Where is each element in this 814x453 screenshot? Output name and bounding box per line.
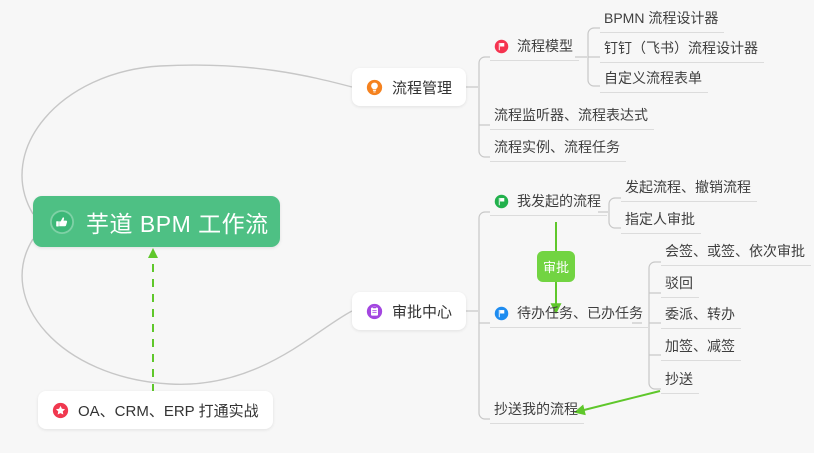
node-process-listener-expression[interactable]: 流程监听器、流程表达式: [490, 105, 654, 130]
node-delegate-transfer-label: 委派、转办: [665, 304, 735, 324]
node-delegate-transfer[interactable]: 委派、转办: [661, 304, 741, 329]
node-todo-done-tasks[interactable]: 待办任务、已办任务: [490, 303, 649, 328]
clipboard-icon: [366, 303, 383, 320]
node-carbon-copy-label: 抄送: [665, 369, 693, 389]
node-my-initiated-process-label: 我发起的流程: [517, 191, 601, 211]
node-process-instance-task-label: 流程实例、流程任务: [494, 137, 620, 157]
node-custom-process-form[interactable]: 自定义流程表单: [600, 68, 708, 93]
branch-process-management[interactable]: 流程管理: [352, 68, 466, 106]
arrow-cc-to-cc-mine: [576, 391, 660, 412]
connector-mine-trunk: [609, 198, 615, 228]
node-start-cancel-process[interactable]: 发起流程、撤销流程: [621, 177, 757, 202]
connector-model-trunk: [588, 28, 594, 86]
connector-todo-trunk: [649, 262, 655, 389]
green-flag-icon: [494, 194, 509, 209]
node-bpmn-designer[interactable]: BPMN 流程设计器: [600, 8, 724, 33]
node-custom-process-form-label: 自定义流程表单: [604, 68, 702, 88]
node-todo-done-tasks-label: 待办任务、已办任务: [517, 303, 643, 323]
connector-ac-trunk: [479, 212, 485, 419]
node-process-listener-expression-label: 流程监听器、流程表达式: [494, 105, 648, 125]
node-add-remove-sign-label: 加签、减签: [665, 336, 735, 356]
node-start-cancel-process-label: 发起流程、撤销流程: [625, 177, 751, 197]
node-dingtalk-feishu-designer-label: 钉钉（飞书）流程设计器: [604, 38, 758, 58]
star-icon: [52, 402, 69, 419]
root-label: 芋道 BPM 工作流: [86, 205, 269, 239]
approval-tag-label: 审批: [543, 257, 569, 276]
node-dingtalk-feishu-designer[interactable]: 钉钉（飞书）流程设计器: [600, 38, 764, 63]
node-reject-label: 驳回: [665, 273, 693, 293]
blue-flag-icon: [494, 306, 509, 321]
node-countersign-orsign-sequential-label: 会签、或签、依次审批: [665, 241, 805, 261]
node-carbon-copy[interactable]: 抄送: [661, 369, 699, 394]
node-assignee-approval-label: 指定人审批: [625, 209, 695, 229]
node-reject[interactable]: 驳回: [661, 273, 699, 298]
node-bpmn-designer-label: BPMN 流程设计器: [604, 8, 718, 28]
mindmap-canvas: 芋道 BPM 工作流 流程管理 流程模型 BPMN 流程设计器 钉钉（飞书）流程: [0, 0, 814, 453]
root-node[interactable]: 芋道 BPM 工作流: [33, 196, 280, 247]
node-assignee-approval[interactable]: 指定人审批: [621, 209, 701, 234]
node-countersign-orsign-sequential[interactable]: 会签、或签、依次审批: [661, 241, 811, 266]
thumbs-up-icon: [49, 209, 75, 235]
approval-tag[interactable]: 审批: [537, 251, 575, 282]
node-process-model[interactable]: 流程模型: [490, 36, 579, 61]
connector-root-to-process-management: [22, 65, 352, 214]
node-process-instance-task[interactable]: 流程实例、流程任务: [490, 137, 626, 162]
integration-card[interactable]: OA、CRM、ERP 打通实战: [38, 391, 273, 429]
red-flag-icon: [494, 39, 509, 54]
lightbulb-icon: [366, 79, 383, 96]
connector-pm-trunk: [479, 57, 485, 157]
connector-root-to-approval-center: [22, 239, 352, 384]
integration-card-label: OA、CRM、ERP 打通实战: [78, 400, 259, 421]
branch-approval-center[interactable]: 审批中心: [352, 292, 466, 330]
node-cc-to-me-process-label: 抄送我的流程: [494, 399, 578, 419]
branch-process-management-label: 流程管理: [392, 77, 452, 98]
node-my-initiated-process[interactable]: 我发起的流程: [490, 191, 607, 216]
node-cc-to-me-process[interactable]: 抄送我的流程: [490, 399, 584, 424]
node-process-model-label: 流程模型: [517, 36, 573, 56]
branch-approval-center-label: 审批中心: [392, 301, 452, 322]
node-add-remove-sign[interactable]: 加签、减签: [661, 336, 741, 361]
